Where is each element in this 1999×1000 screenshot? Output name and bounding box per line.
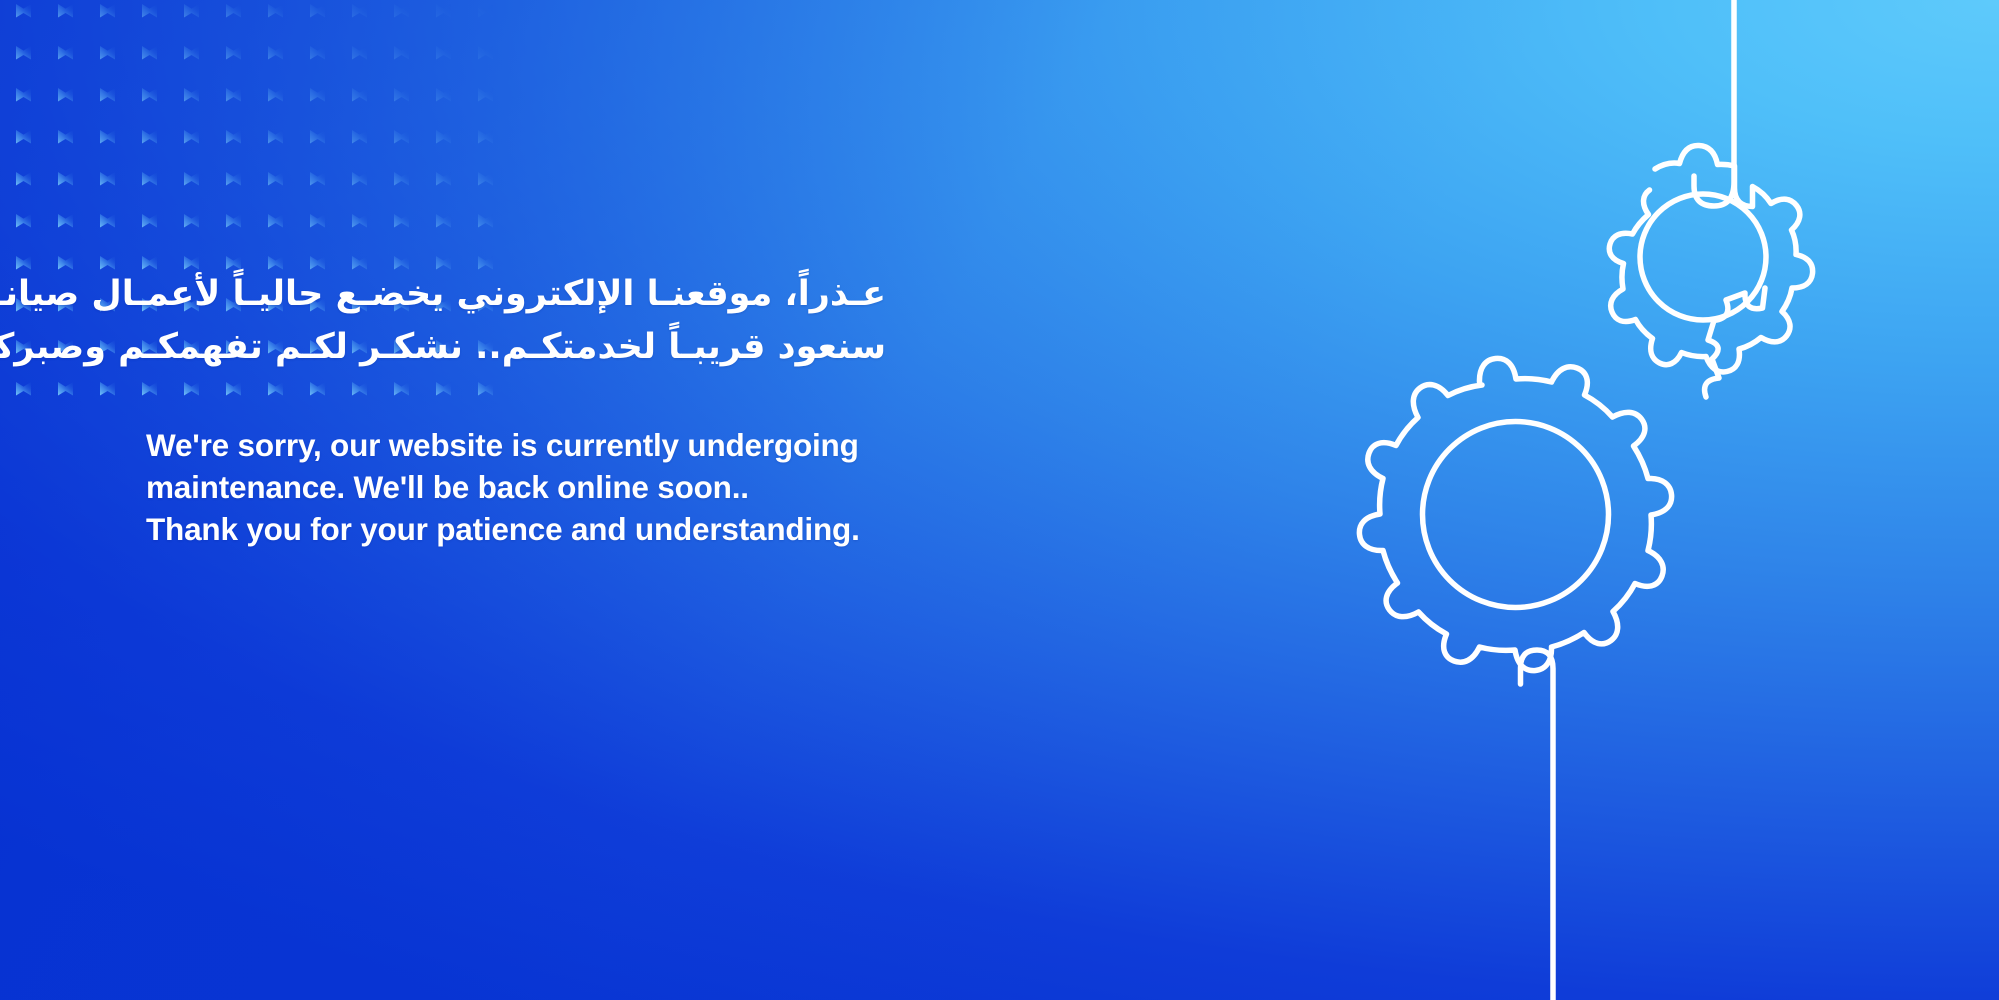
large-gear-hub bbox=[1423, 422, 1609, 608]
english-line-2: maintenance. We'll be back online soon.. bbox=[146, 466, 1146, 508]
arabic-line-1: عـذراً، موقعنـا الإلكتروني يخضـع حاليـاً… bbox=[146, 268, 886, 321]
maintenance-page: عـذراً، موقعنـا الإلكتروني يخضـع حاليـاً… bbox=[0, 0, 1999, 1000]
small-gear-ring bbox=[1705, 288, 1765, 397]
small-gear-hub bbox=[1640, 194, 1766, 320]
top-connector-line bbox=[1694, 0, 1734, 206]
large-gear bbox=[1359, 358, 1671, 670]
english-line-3: Thank you for your patience and understa… bbox=[146, 508, 1146, 550]
english-line-1: We're sorry, our website is currently un… bbox=[146, 424, 1146, 466]
small-gear bbox=[1609, 145, 1812, 371]
gear-line-artwork bbox=[1000, 0, 1999, 1000]
small-gear bbox=[1655, 145, 1800, 288]
english-message: We're sorry, our website is currently un… bbox=[146, 424, 1146, 550]
arabic-message: عـذراً، موقعنـا الإلكتروني يخضـع حاليـاً… bbox=[146, 268, 886, 374]
maintenance-message-block: عـذراً، موقعنـا الإلكتروني يخضـع حاليـاً… bbox=[146, 268, 1146, 550]
bottom-connector-line bbox=[1521, 650, 1554, 1000]
arabic-line-2: سنعود قريبـاً لخدمتكـم.. نشكـر لكـم تفهم… bbox=[146, 321, 886, 374]
